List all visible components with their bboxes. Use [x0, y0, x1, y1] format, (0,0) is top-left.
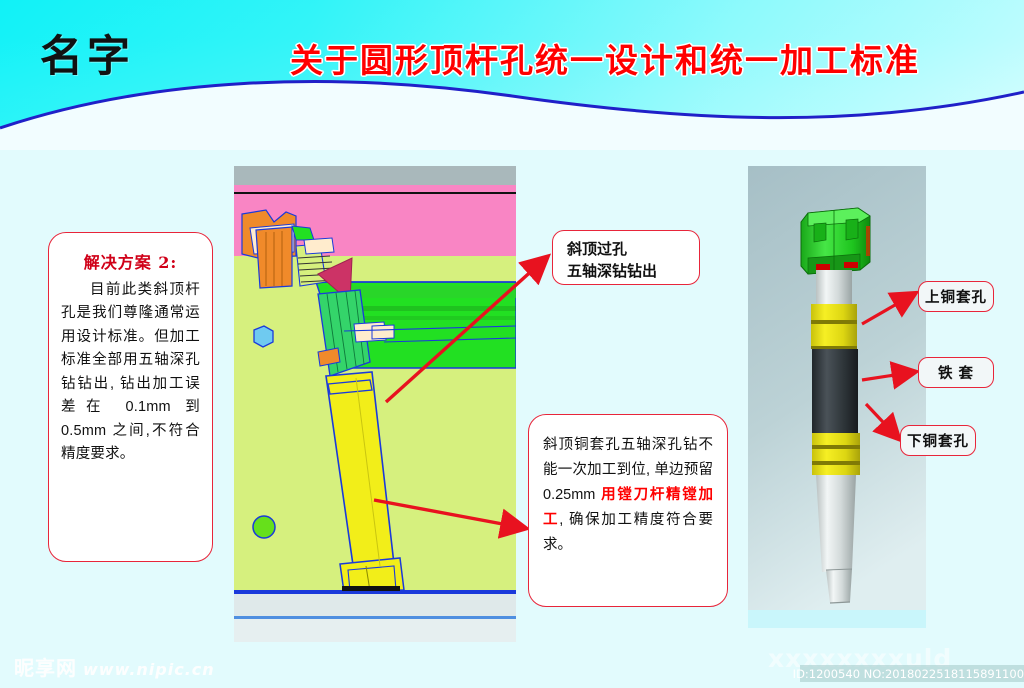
label-lower-copper-sleeve-hole: 下铜套孔 [900, 425, 976, 456]
watermark-id-text: ID:1200540 NO:20180225181158911000 [800, 665, 1024, 682]
callout-boring-text: 斜顶铜套孔五轴深孔钻不能一次加工到位, 单边预留0.25mm 用镗刀杆精镗加工,… [543, 433, 713, 558]
callout-boring-process: 斜顶铜套孔五轴深孔钻不能一次加工到位, 单边预留0.25mm 用镗刀杆精镗加工,… [528, 414, 728, 607]
watermark-site-cn: 昵享网 [14, 656, 77, 680]
cad-main-section-view [234, 166, 516, 642]
cad-ejector-pin-assembly [748, 166, 926, 628]
label-iron-sleeve: 铁 套 [918, 357, 994, 388]
callout-through-hole-line2: 五轴深钻钻出 [567, 261, 699, 283]
poster-name-badge: 名字 [40, 22, 134, 84]
solution-panel: 解决方案 2: 目前此类斜顶杆孔是我们尊隆通常运用设计标准。但加工标准全部用五轴… [48, 232, 213, 562]
callout-through-hole-text: 斜顶过孔 五轴深钻钻出 [567, 239, 699, 283]
callout-through-hole: 斜顶过孔 五轴深钻钻出 [552, 230, 700, 285]
label-upper-copper-sleeve-hole: 上铜套孔 [918, 281, 994, 312]
poster-header: 名字 关于圆形顶杆孔统一设计和统一加工标准 [0, 0, 1024, 150]
solution-panel-body: 目前此类斜顶杆孔是我们尊隆通常运用设计标准。但加工标准全部用五轴深孔钻钻出, 钻… [61, 279, 200, 467]
watermark-site-url: www.nipic.cn [83, 660, 215, 679]
poster-canvas: 名字 关于圆形顶杆孔统一设计和统一加工标准 [0, 0, 1024, 688]
callout-boring-text-b: , 确保加工精度符合要求。 [543, 512, 713, 553]
solution-panel-body-text: 目前此类斜顶杆孔是我们尊隆通常运用设计标准。但加工标准全部用五轴深孔钻钻出, 钻… [61, 279, 200, 467]
cad-right-svg [748, 166, 926, 628]
callout-through-hole-line1: 斜顶过孔 [567, 239, 699, 261]
solution-panel-title: 解决方案 2: [49, 249, 212, 273]
watermark-site-logo: 昵享网www.nipic.cn [14, 652, 215, 681]
cad-main-svg [234, 166, 516, 642]
poster-title: 关于圆形顶杆孔统一设计和统一加工标准 [255, 34, 955, 82]
